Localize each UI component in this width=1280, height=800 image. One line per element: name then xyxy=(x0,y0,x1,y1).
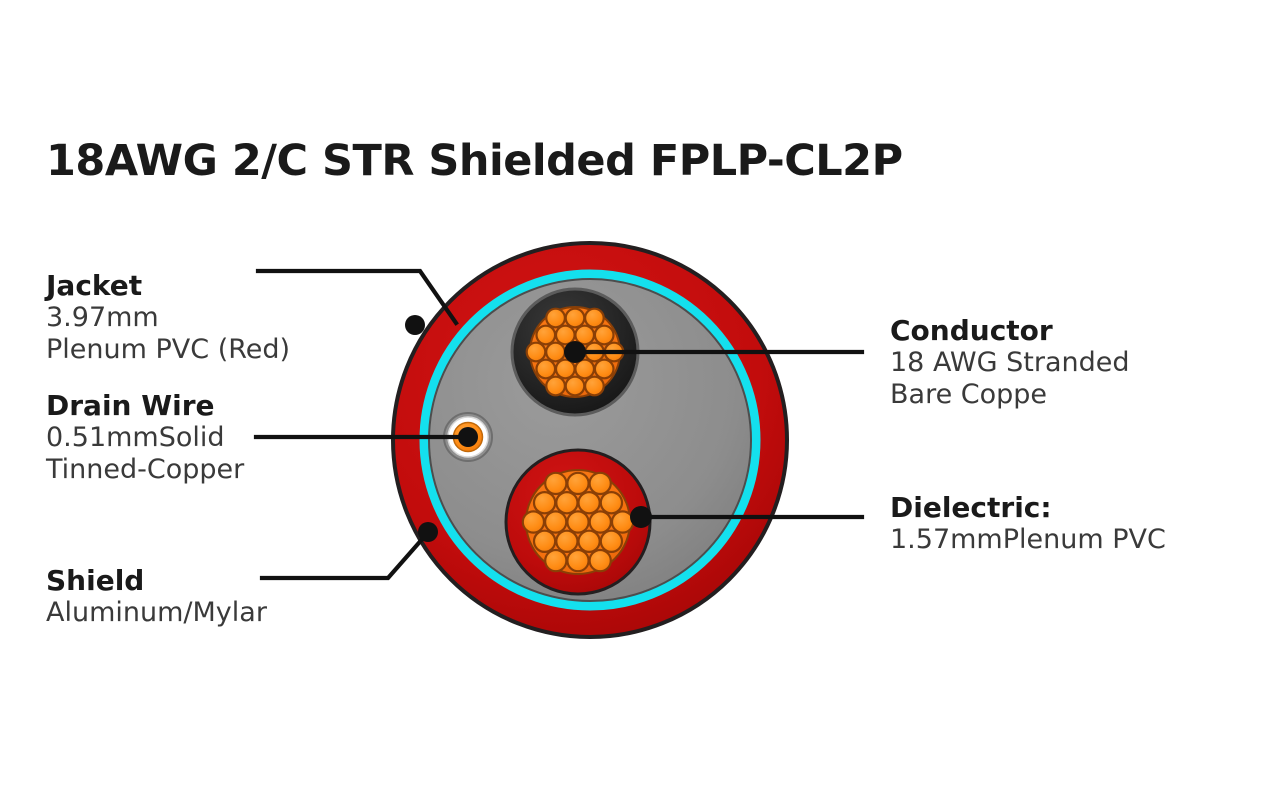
callout-jacket-line1: 3.97mm xyxy=(46,302,290,333)
diagram-canvas: 18AWG 2/C STR Shielded FPLP-CL2P xyxy=(0,0,1280,800)
dot-conductor xyxy=(564,341,586,363)
bottom-conductor-assembly xyxy=(506,450,650,594)
callout-conductor-line2: Bare Coppe xyxy=(890,379,1130,410)
callout-conductor-heading: Conductor xyxy=(890,315,1130,347)
callout-dielectric: Dielectric: 1.57mmPlenum PVC xyxy=(890,492,1166,556)
callout-shield: Shield Aluminum/Mylar xyxy=(46,565,267,629)
dot-dielectric xyxy=(630,506,652,528)
callout-jacket-line2: Plenum PVC (Red) xyxy=(46,334,290,365)
callout-dielectric-line1: 1.57mmPlenum PVC xyxy=(890,524,1166,555)
callout-shield-heading: Shield xyxy=(46,565,267,597)
callout-dielectric-heading: Dielectric: xyxy=(890,492,1166,524)
dot-shield xyxy=(418,522,438,542)
callout-conductor-line1: 18 AWG Stranded xyxy=(890,347,1130,378)
callout-jacket-heading: Jacket xyxy=(46,270,290,302)
dot-drain-wire xyxy=(458,427,478,447)
leader-shield xyxy=(262,528,432,578)
callout-shield-line1: Aluminum/Mylar xyxy=(46,597,267,628)
callout-drain-wire-line2: Tinned-Copper xyxy=(46,454,244,485)
dot-jacket xyxy=(405,315,425,335)
callout-conductor: Conductor 18 AWG Stranded Bare Coppe xyxy=(890,315,1130,410)
callout-drain-wire-line1: 0.51mmSolid xyxy=(46,422,244,453)
callout-drain-wire: Drain Wire 0.51mmSolid Tinned-Copper xyxy=(46,390,244,485)
callout-jacket: Jacket 3.97mm Plenum PVC (Red) xyxy=(46,270,290,365)
callout-drain-wire-heading: Drain Wire xyxy=(46,390,244,422)
